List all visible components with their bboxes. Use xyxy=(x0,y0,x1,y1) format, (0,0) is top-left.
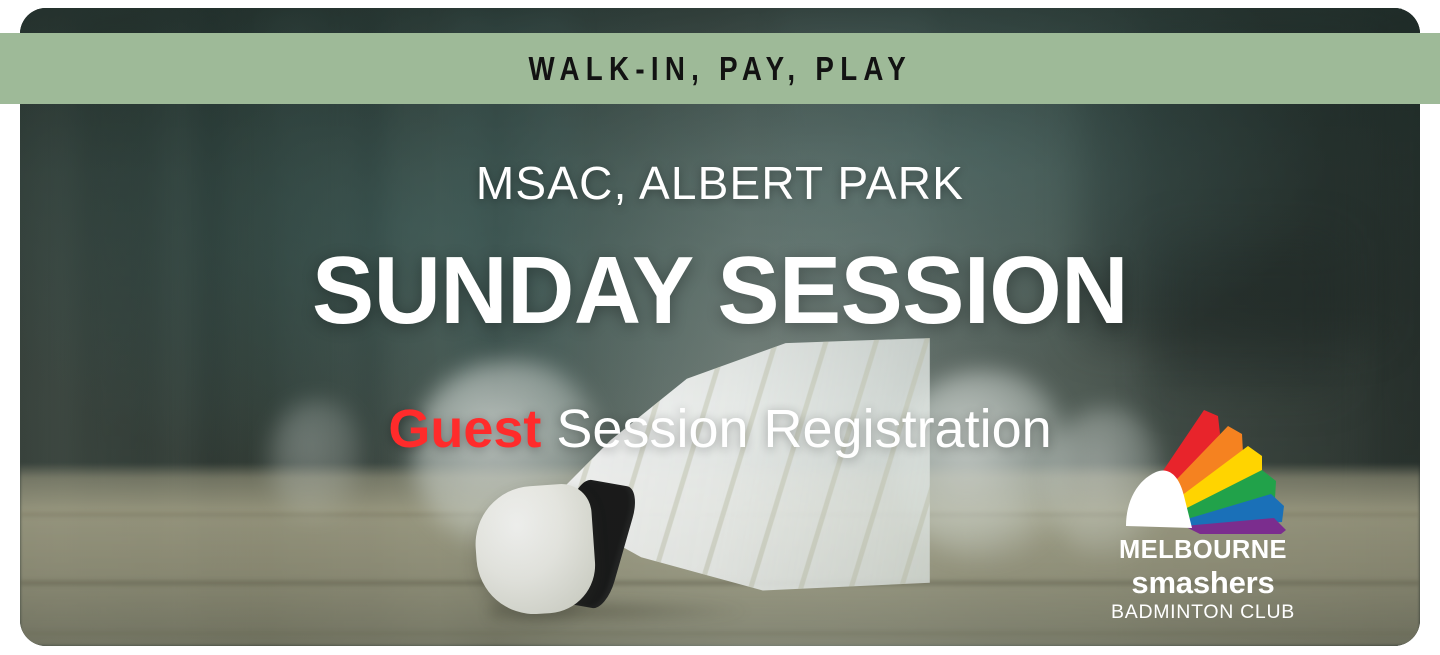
logo-line-smashers: smashers xyxy=(1108,567,1298,599)
club-logo: MELBOURNE smashers BADMINTON CLUB xyxy=(1108,404,1298,619)
logo-line-badminton-club: BADMINTON CLUB xyxy=(1108,603,1298,623)
top-tagline-strip: WALK-IN, PAY, PLAY xyxy=(0,33,1440,104)
logo-line-melbourne: MELBOURNE xyxy=(1108,538,1298,564)
club-logo-wordmark: MELBOURNE smashers BADMINTON CLUB xyxy=(1108,538,1298,623)
tagline-text: WALK-IN, PAY, PLAY xyxy=(528,50,911,88)
promotional-banner: WALK-IN, PAY, PLAY MSAC, ALBERT PARK SUN… xyxy=(0,0,1440,655)
shuttlecock-logo-icon xyxy=(1108,404,1298,534)
